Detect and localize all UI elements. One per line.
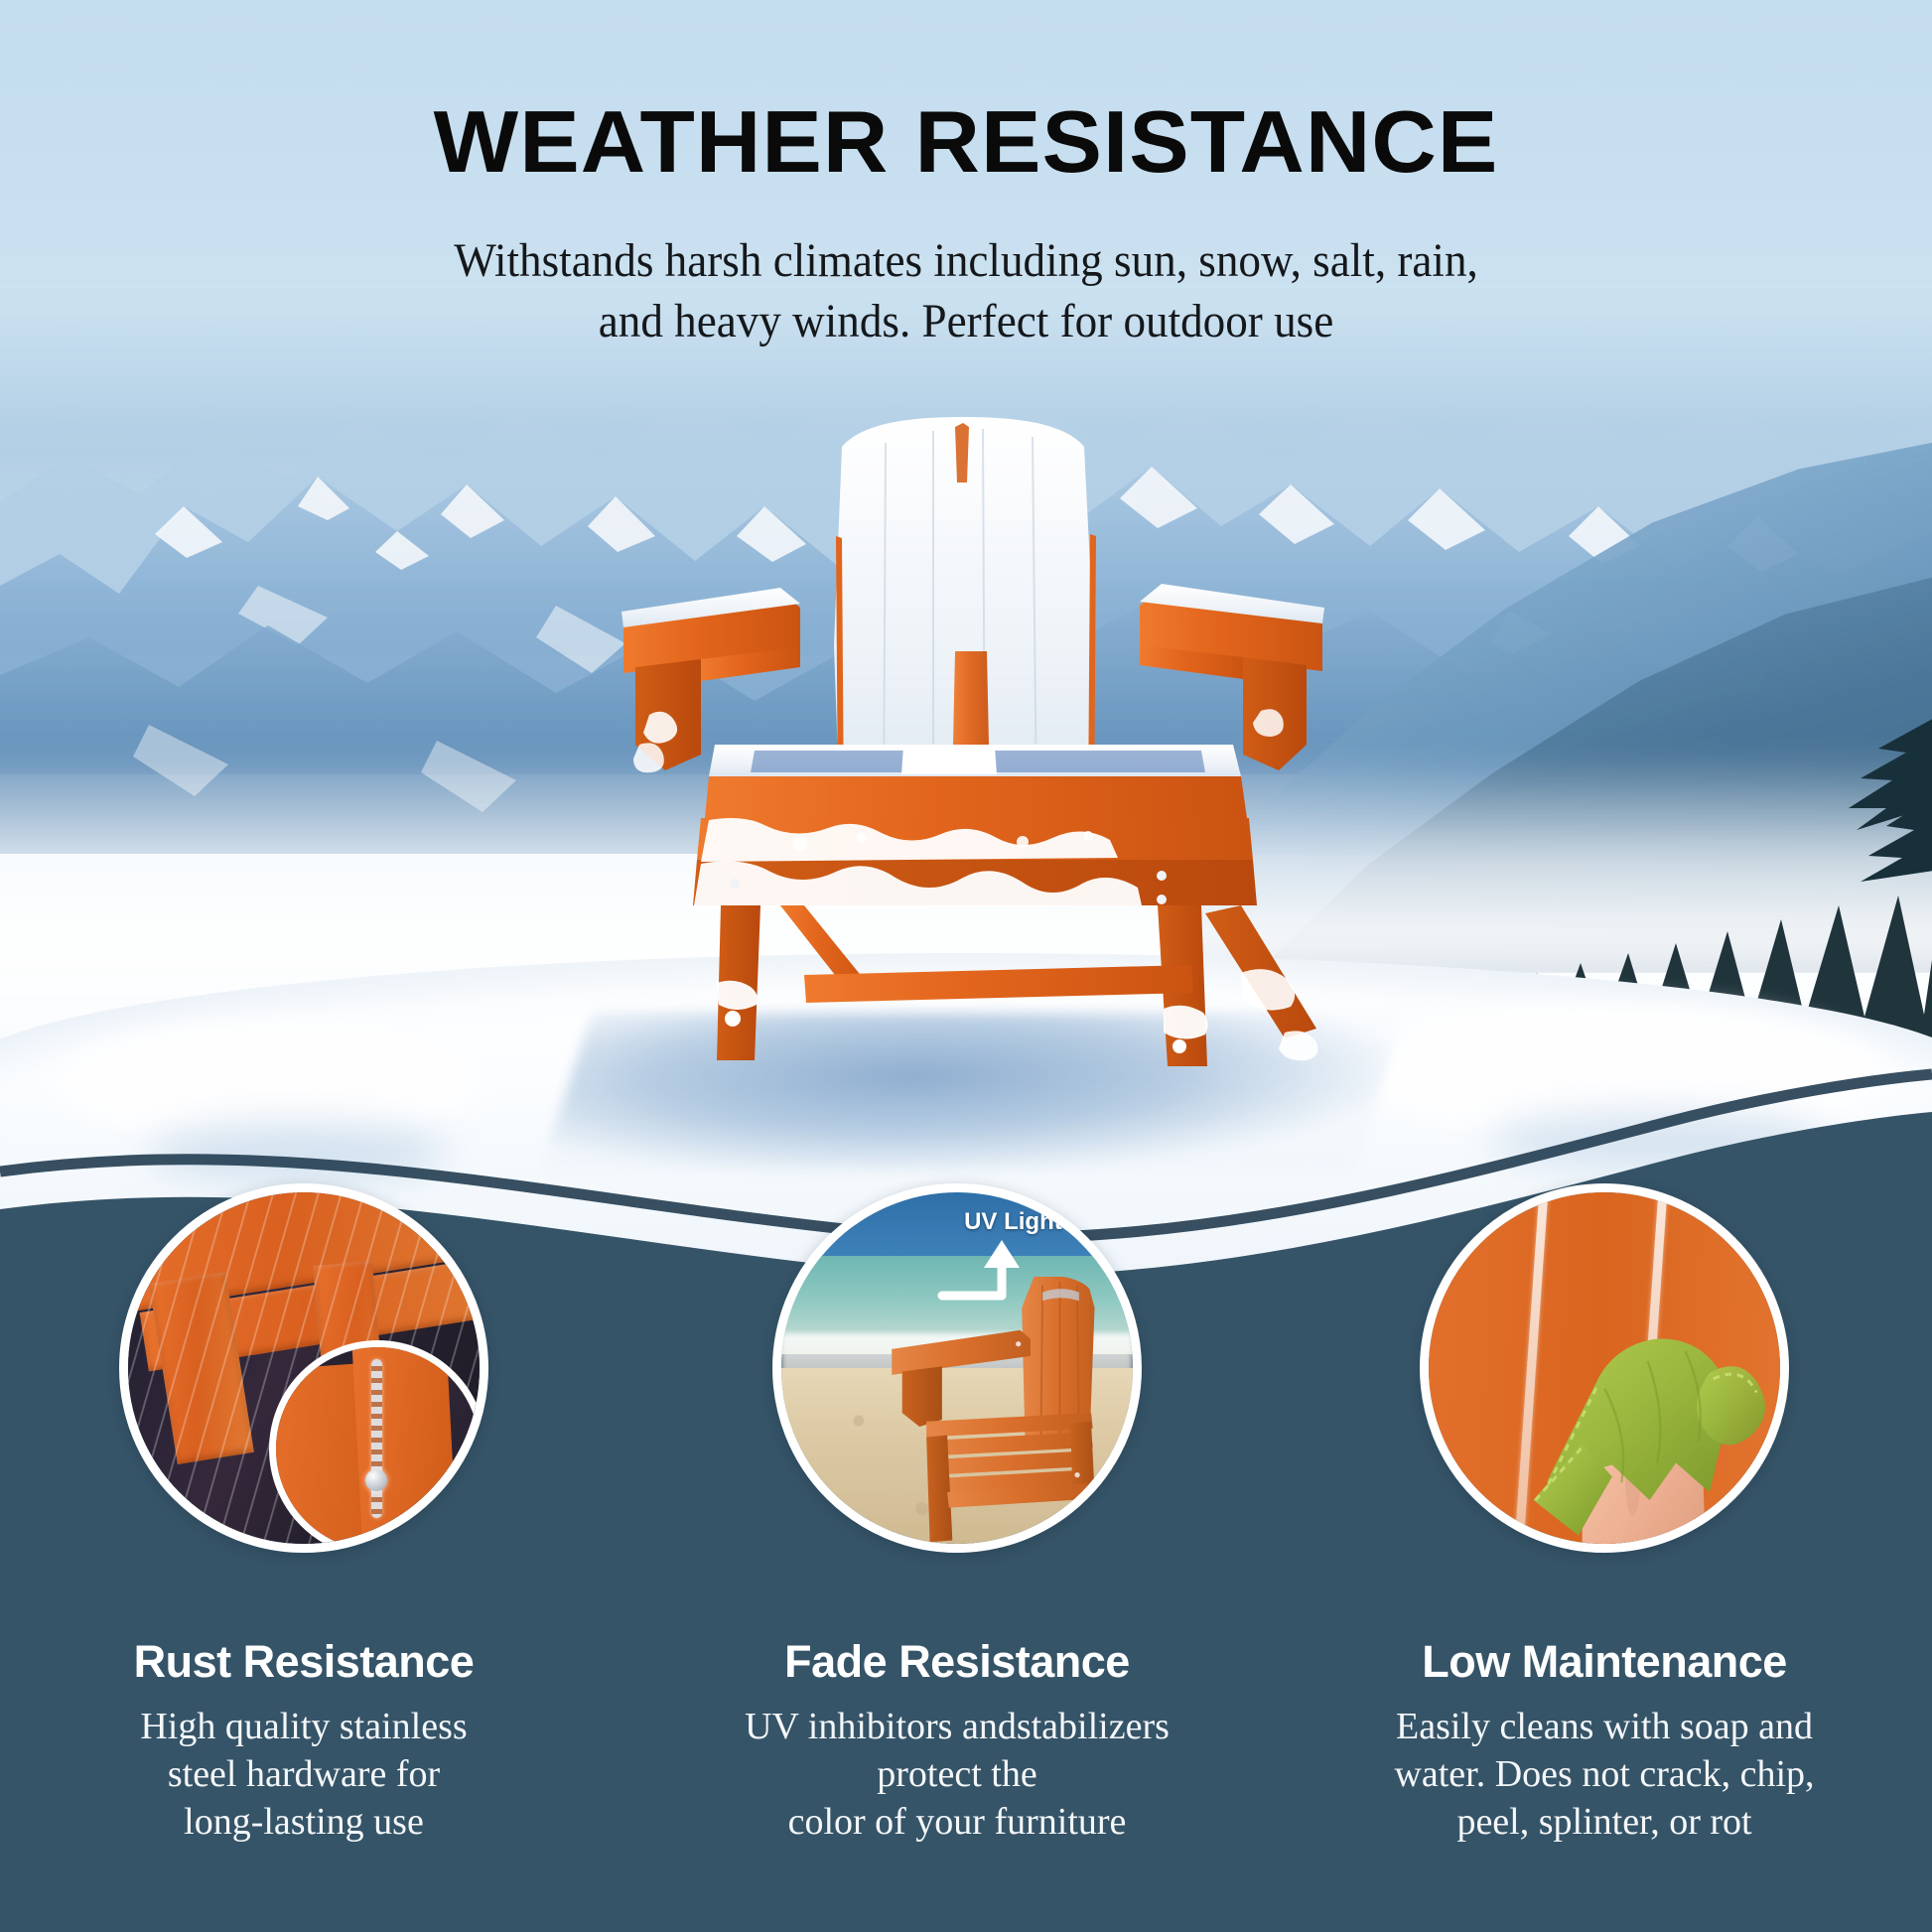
feature-desc-line-3: peel, splinter, or rot (1456, 1801, 1751, 1843)
hardware-detail-inset (269, 1340, 486, 1553)
beach-adirondack-chair (873, 1277, 1133, 1544)
page-subtitle: Withstands harsh climates including sun,… (0, 230, 1932, 352)
infographic-poster: WEATHER RESISTANCE Withstands harsh clim… (0, 0, 1932, 1932)
rust-scene (128, 1192, 480, 1544)
cleaning-scene (1429, 1192, 1780, 1544)
feature-text-fade-resistance: Fade Resistance UV inhibitors andstabili… (679, 1636, 1235, 1847)
feature-title: Low Maintenance (1326, 1636, 1882, 1688)
page-title: WEATHER RESISTANCE (0, 91, 1932, 193)
feature-desc-line-2: water. Does not crack, chip, (1394, 1753, 1814, 1795)
feature-desc-line-1: UV inhibitors andstabilizers (745, 1706, 1170, 1747)
pine-branch (1712, 675, 1932, 923)
subtitle-line-1: Withstands harsh climates including sun,… (58, 230, 1873, 291)
feature-description: Easily cleans with soap and water. Does … (1326, 1704, 1882, 1847)
subtitle-line-2: and heavy winds. Perfect for outdoor use (58, 291, 1873, 351)
feature-title: Rust Resistance (26, 1636, 582, 1688)
feature-desc-line-3: long-lasting use (184, 1801, 424, 1843)
uv-light-label: UV Light (964, 1208, 1062, 1236)
adirondack-chair (606, 417, 1340, 1092)
beach-scene: UV Light (781, 1192, 1133, 1544)
feature-desc-line-1: Easily cleans with soap and (1396, 1706, 1813, 1747)
feature-desc-line-2: steel hardware for (168, 1753, 440, 1795)
stainless-chain (371, 1359, 382, 1518)
feature-desc-line-3: color of your furniture (788, 1801, 1127, 1843)
inset-chair-post (351, 1340, 457, 1553)
feature-image-fade-resistance: UV Light (772, 1183, 1142, 1553)
feature-description: UV inhibitors andstabilizers protect the… (679, 1704, 1235, 1847)
feature-image-low-maintenance (1420, 1183, 1789, 1553)
stainless-fastener (365, 1469, 387, 1491)
feature-text-low-maintenance: Low Maintenance Easily cleans with soap … (1326, 1636, 1882, 1847)
feature-description: High quality stainless steel hardware fo… (26, 1704, 582, 1847)
hand-with-cloth (1492, 1291, 1773, 1553)
feature-image-rust-resistance (119, 1183, 488, 1553)
feature-desc-line-2: protect the (877, 1753, 1036, 1795)
feature-text-rust-resistance: Rust Resistance High quality stainless s… (26, 1636, 582, 1847)
feature-desc-line-1: High quality stainless (140, 1706, 467, 1747)
feature-title: Fade Resistance (679, 1636, 1235, 1688)
